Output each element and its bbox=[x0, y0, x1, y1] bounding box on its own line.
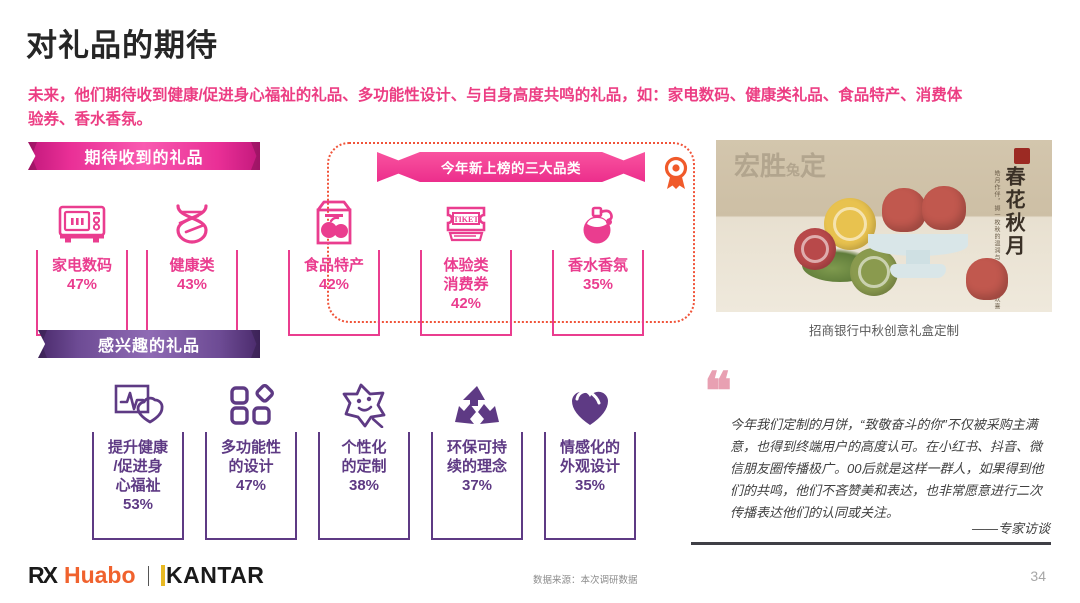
interested-gifts-row: 提升健康 /促进身 心福祉 53% 多功能性 的设计 47% bbox=[92, 372, 636, 540]
gift-card-emotional-design: 情感化的 外观设计 35% bbox=[544, 372, 636, 540]
gift-value: 35% bbox=[583, 276, 613, 293]
section-banner-expected-label: 期待收到的礼品 bbox=[84, 144, 203, 168]
new-categories-ribbon: 今年新上榜的三大品类 bbox=[377, 152, 645, 182]
mooncake-rabbit-3 bbox=[966, 258, 1008, 300]
gift-card-bracket: 家电数码 47% bbox=[36, 250, 128, 336]
gift-card-health-wellbeing: 提升健康 /促进身 心福祉 53% bbox=[92, 372, 184, 540]
page-number: 34 bbox=[1030, 568, 1046, 584]
product-brand-left-2: 定 bbox=[800, 152, 826, 181]
source-note: 数据来源：本次调研数据 bbox=[533, 572, 638, 586]
new-categories-ribbon-label: 今年新上榜的三大品类 bbox=[441, 157, 581, 177]
gift-card-personalization: 个性化 的定制 38% bbox=[318, 372, 410, 540]
mooncake-red bbox=[794, 228, 836, 270]
logo-kantar-bar bbox=[161, 565, 165, 586]
gift-card-bracket: 环保可持 续的理念 37% bbox=[431, 432, 523, 540]
dna-icon bbox=[168, 190, 216, 246]
quote-open-mark: ❝ bbox=[704, 374, 732, 412]
gift-card-bracket: 香水香氛 35% bbox=[552, 250, 644, 336]
gift-value: 38% bbox=[349, 477, 379, 494]
gift-value: 43% bbox=[177, 276, 207, 293]
gift-label: 提升健康 /促进身 心福祉 bbox=[108, 438, 168, 495]
page-subtitle: 未来，他们期待收到健康/促进身心福祉的礼品、多功能性设计、与自身高度共鸣的礼品，… bbox=[28, 84, 968, 132]
gift-label: 香水香氛 bbox=[568, 256, 628, 275]
gift-card-perfume: 香水香氛 35% bbox=[552, 190, 644, 336]
gift-card-multifunction-design: 多功能性 的设计 47% bbox=[205, 372, 297, 540]
product-brand-left: 宏胜兔定 bbox=[734, 154, 826, 185]
logo-divider bbox=[148, 566, 150, 586]
quote-divider bbox=[691, 542, 1051, 545]
gift-card-bracket: 健康类 43% bbox=[146, 250, 238, 336]
logo-rx-text: RX bbox=[28, 562, 56, 589]
quote-text: 今年我们定制的月饼，“致敬奋斗的你”不仅被采购主满意，也得到终端用户的高度认可。… bbox=[730, 414, 1050, 524]
gift-label: 体验类 消费券 bbox=[443, 256, 488, 294]
product-brand-left-main: 宏胜 bbox=[734, 152, 786, 181]
gift-card-home-appliance: 家电数码 47% bbox=[36, 190, 128, 336]
mooncake-rabbit-1 bbox=[882, 188, 926, 232]
gift-card-bracket: 个性化 的定制 38% bbox=[318, 432, 410, 540]
logo-huabo-text: Huabo bbox=[64, 562, 136, 589]
slide-root: 对礼品的期待 未来，他们期待收到健康/促进身心福祉的礼品、多功能性设计、与自身高… bbox=[0, 0, 1080, 603]
product-title-right: 春花秋月 bbox=[999, 166, 1028, 258]
gift-label: 个性化 的定制 bbox=[341, 438, 386, 476]
gift-value: 47% bbox=[67, 276, 97, 293]
section-banner-interested: 感兴趣的礼品 bbox=[38, 330, 260, 358]
expected-gifts-row: 家电数码 47% 健康类 43% bbox=[36, 190, 644, 336]
gift-value: 42% bbox=[451, 295, 481, 312]
product-photo-mooncake-giftbox: 宏胜兔定 春花秋月 皓月作伴，撷一枚秋的温润与丰润，分享欢喜 bbox=[716, 140, 1052, 312]
mooncake-rabbit-2 bbox=[922, 186, 966, 230]
svg-text:TIKET: TIKET bbox=[453, 215, 479, 224]
product-brand-left-small: 兔 bbox=[786, 164, 800, 179]
footer-logo: RX Huabo KANTAR bbox=[28, 562, 264, 589]
food-bag-icon bbox=[310, 190, 358, 246]
gift-label: 家电数码 bbox=[52, 256, 112, 275]
section-banner-expected: 期待收到的礼品 bbox=[28, 142, 260, 170]
gift-label: 食品特产 bbox=[304, 256, 364, 275]
recycle-icon bbox=[451, 372, 503, 428]
gift-value: 47% bbox=[236, 477, 266, 494]
product-photo-caption: 招商银行中秋创意礼盒定制 bbox=[716, 320, 1052, 339]
gift-card-bracket: 情感化的 外观设计 35% bbox=[544, 432, 636, 540]
gift-label: 健康类 bbox=[169, 256, 214, 275]
gift-card-experience-voucher: TIKET 体验类 消费券 42% bbox=[420, 190, 512, 336]
quote-source: ——专家访谈 bbox=[730, 518, 1050, 537]
microwave-icon bbox=[57, 190, 107, 246]
gift-value: 42% bbox=[319, 276, 349, 293]
gift-value: 35% bbox=[575, 477, 605, 494]
gift-label: 环保可持 续的理念 bbox=[447, 438, 507, 476]
gift-card-food-specialty: 食品特产 42% bbox=[288, 190, 380, 336]
gift-label: 多功能性 的设计 bbox=[221, 438, 281, 476]
gift-card-health: 健康类 43% bbox=[146, 190, 238, 336]
gift-label: 情感化的 外观设计 bbox=[560, 438, 620, 476]
gift-card-bracket: 多功能性 的设计 47% bbox=[205, 432, 297, 540]
modules-icon bbox=[228, 372, 274, 428]
page-title: 对礼品的期待 bbox=[26, 20, 218, 65]
product-seal-icon bbox=[1014, 148, 1030, 164]
section-banner-interested-label: 感兴趣的礼品 bbox=[98, 332, 200, 356]
perfume-icon bbox=[574, 190, 622, 246]
gift-card-sustainability: 环保可持 续的理念 37% bbox=[431, 372, 523, 540]
gift-card-bracket: 食品特产 42% bbox=[288, 250, 380, 336]
gift-card-bracket: 提升健康 /促进身 心福祉 53% bbox=[92, 432, 184, 540]
gift-value: 53% bbox=[123, 496, 153, 513]
heart-swirl-icon bbox=[565, 372, 615, 428]
ticket-icon: TIKET bbox=[440, 190, 492, 246]
star-smile-icon bbox=[339, 372, 389, 428]
award-medal-icon bbox=[661, 156, 691, 197]
gift-value: 37% bbox=[462, 477, 492, 494]
logo-kantar-text: KANTAR bbox=[166, 562, 264, 589]
heart-monitor-icon bbox=[112, 372, 164, 428]
gift-card-bracket: 体验类 消费券 42% bbox=[420, 250, 512, 336]
